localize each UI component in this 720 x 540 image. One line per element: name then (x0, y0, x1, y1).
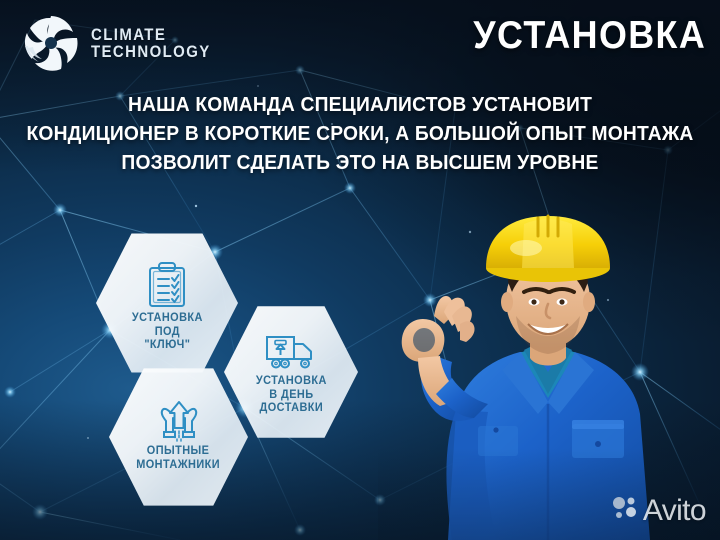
clipboard-checklist-icon (146, 261, 188, 309)
feature-label-line2: МОНТАЖНИКИ (137, 459, 221, 473)
feature-label-line2: ПОД (132, 326, 203, 340)
feature-label-line1: ОПЫТНЫЕ (137, 445, 221, 459)
feature-label-line3: "КЛЮЧ" (132, 339, 203, 353)
headline-line-1: НАША КОМАНДА СПЕЦИАЛИСТОВ УСТАНОВИТ (22, 90, 699, 119)
feature-label-line1: УСТАНОВКА (256, 375, 327, 389)
brand-name-line1: CLIMATE (91, 26, 211, 43)
brand-name-line2: TECHNOLOGY (91, 43, 211, 60)
hands-airflow-icon (153, 398, 205, 442)
feature-label-line3: ДОСТАВКИ (256, 402, 327, 416)
avito-wordmark: Avito (643, 496, 706, 526)
promo-banner: CLIMATE TECHNOLOGY УСТАНОВКА НАША КОМАНД… (0, 0, 720, 540)
headline-line-3: ПОЗВОЛИТ СДЕЛАТЬ ЭТО НА ВЫСШЕМ УРОВНЕ (22, 148, 699, 177)
feature-label-turnkey: УСТАНОВКА ПОД "КЛЮЧ" (132, 312, 203, 353)
spiral-fan-logo-icon (20, 12, 82, 74)
brand-logo[interactable]: CLIMATE TECHNOLOGY (20, 12, 227, 74)
avito-dots-icon (612, 495, 638, 526)
headline-line-2: КОНДИЦИОНЕР В КОРОТКИЕ СРОКИ, А БОЛЬШОЙ … (22, 119, 699, 148)
feature-label-delivery-day: УСТАНОВКА В ДЕНЬ ДОСТАВКИ (256, 375, 327, 416)
feature-label-line2: В ДЕНЬ (256, 389, 327, 403)
feature-label-experienced-installers: ОПЫТНЫЕ МОНТАЖНИКИ (137, 445, 221, 472)
worker-photo (378, 212, 720, 540)
delivery-truck-icon (265, 332, 317, 372)
headline: НАША КОМАНДА СПЕЦИАЛИСТОВ УСТАНОВИТ КОНД… (0, 90, 720, 177)
feature-label-line1: УСТАНОВКА (132, 312, 203, 326)
page-title: УСТАНОВКА (473, 14, 706, 58)
avito-watermark: Avito (612, 495, 706, 526)
brand-name: CLIMATE TECHNOLOGY (91, 26, 211, 61)
